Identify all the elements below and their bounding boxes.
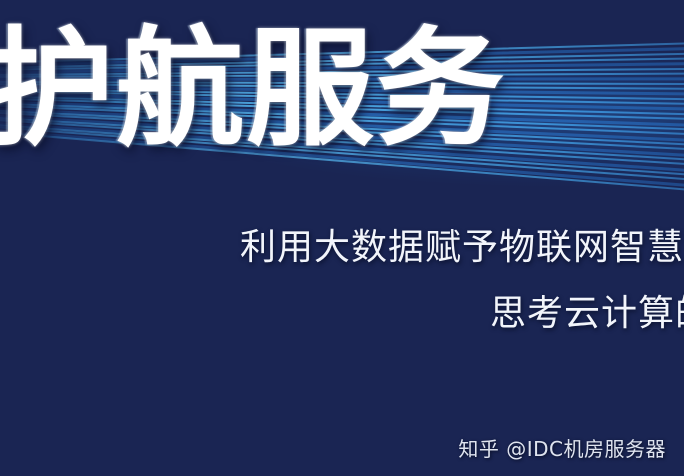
subtitle-line-1: 利用大数据赋予物联网智慧: [240, 226, 684, 270]
promotional-banner: 护航服务 利用大数据赋予物联网智慧 思考云计算的 知乎 @IDC机房服务器: [0, 0, 684, 476]
watermark-credit: 知乎 @IDC机房服务器: [458, 436, 666, 462]
subtitle-line-2: 思考云计算的: [490, 292, 684, 336]
subtitle-block: 利用大数据赋予物联网智慧 思考云计算的: [0, 214, 684, 354]
page-title: 护航服务: [0, 16, 506, 164]
